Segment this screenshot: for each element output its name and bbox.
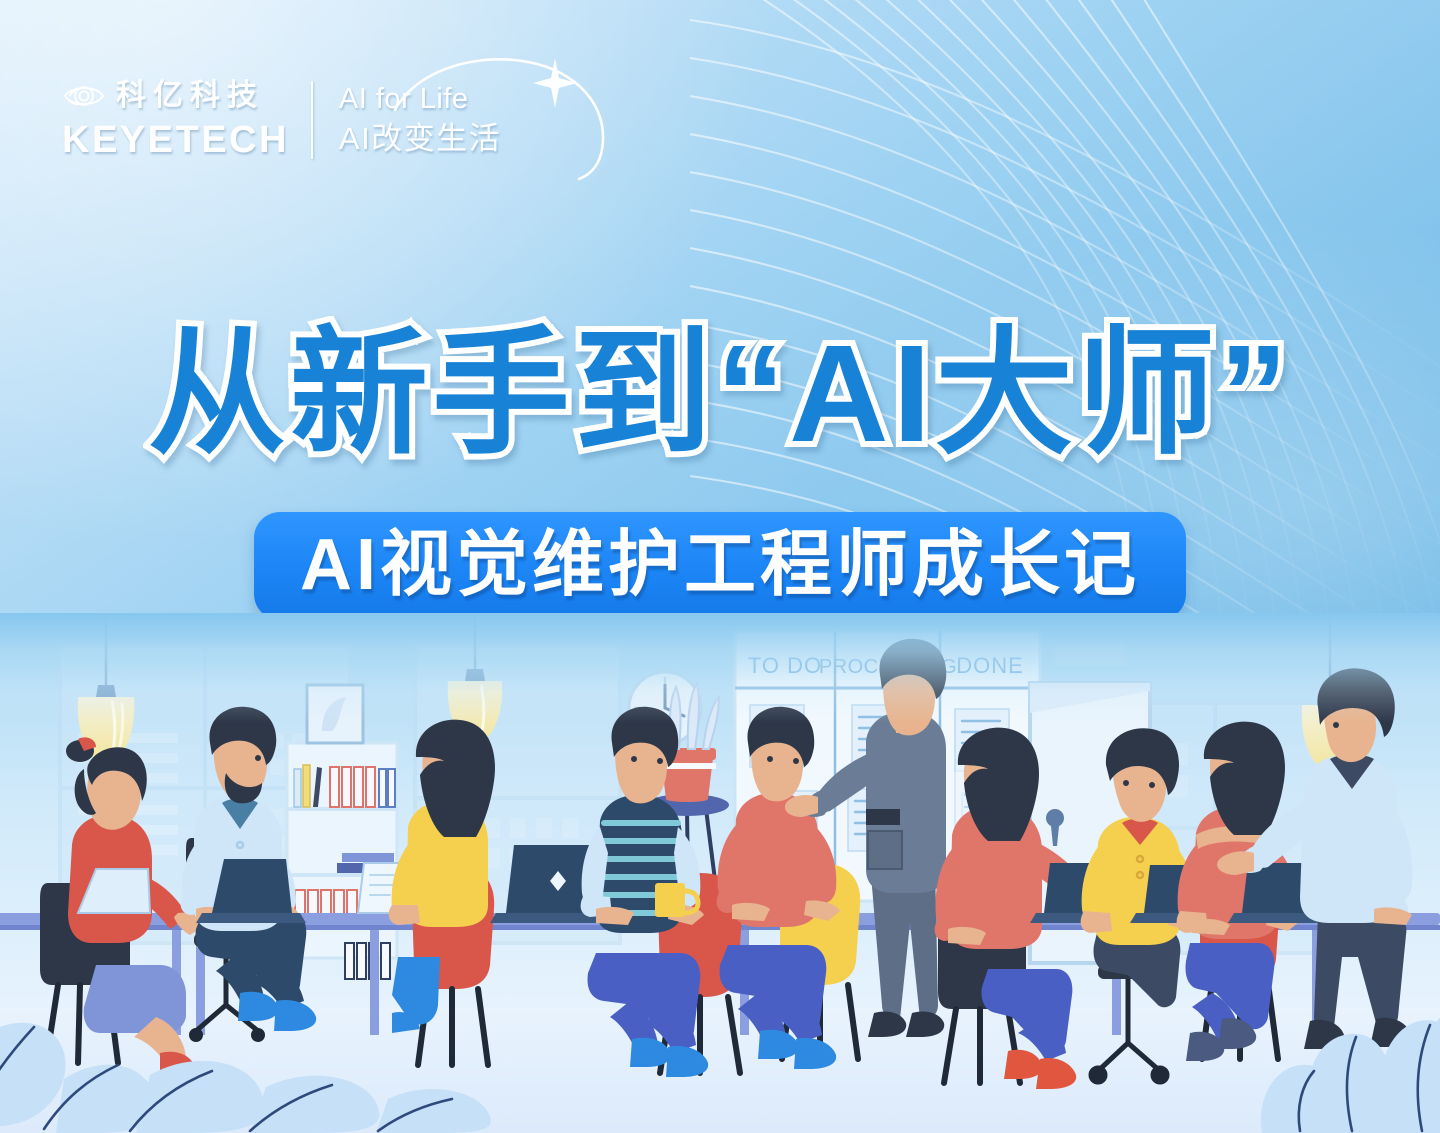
office-illustration: TO DO PROCESSING DONE [0,613,1440,1133]
brand-name-en: KEYETECH [62,121,289,159]
hero-title: 从新手到“AI大师” [20,325,1420,463]
eye-logo-icon [62,81,106,111]
hero-subtitle-text: AI视觉维护工程师成长记 [300,529,1140,601]
tagline-cn: AI改变生活 [339,123,501,156]
kanban-col-todo: TO DO [748,653,822,678]
brand-name-cn: 科亿科技 [116,81,264,111]
hero-subtitle-banner: AI视觉维护工程师成长记 [254,512,1186,620]
kanban-col-done: DONE [956,653,1024,678]
tagline-en: AI for Life [339,84,501,114]
brand-logo-left: 科亿科技 KEYETECH [62,81,289,159]
logo-divider [311,81,313,159]
poster-canvas: 科亿科技 KEYETECH AI for Life AI改变生活 从新手到“AI… [0,0,1440,1133]
brand-tagline: AI for Life AI改变生活 [339,84,501,156]
brand-logo: 科亿科技 KEYETECH AI for Life AI改变生活 [62,72,501,168]
